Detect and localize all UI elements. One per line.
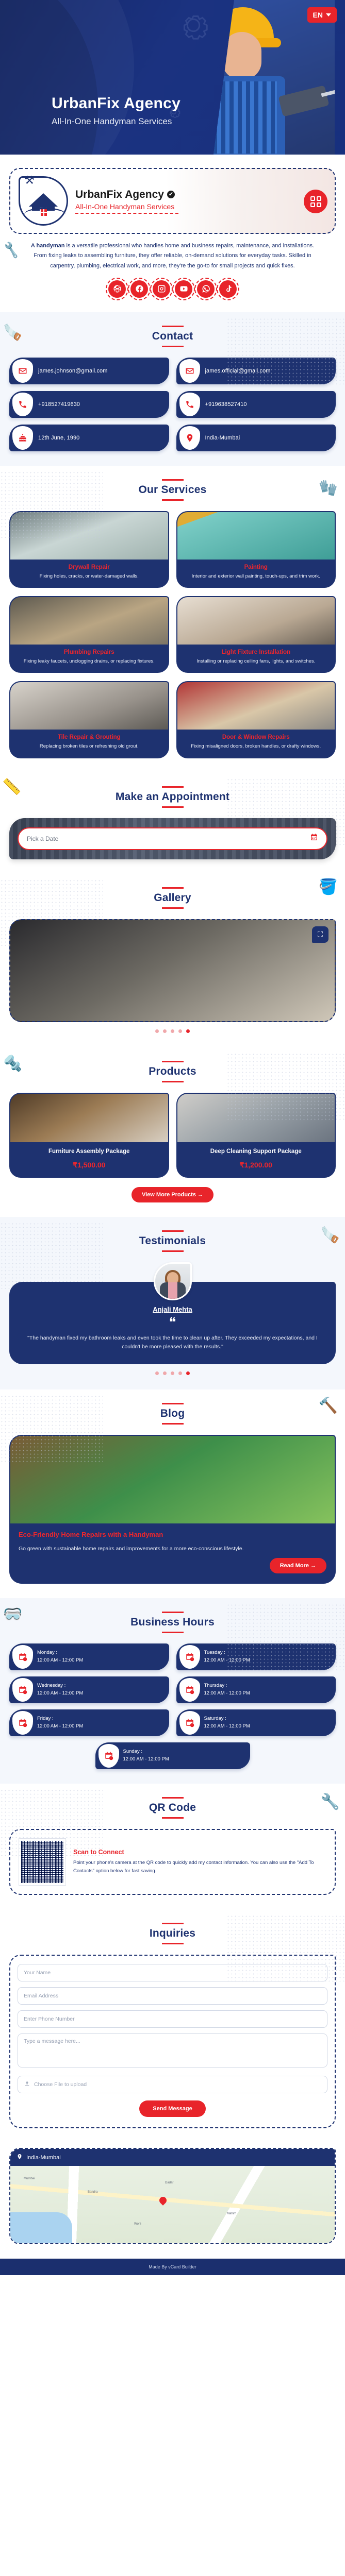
section-title: Products <box>9 1065 336 1078</box>
inquiries-section: Inquiries Choose File to upload Send Mes… <box>0 1909 345 2143</box>
logo-arc-decoration <box>24 208 65 221</box>
calendar-clock-icon <box>179 1711 200 1735</box>
date-placeholder: Pick a Date <box>27 835 58 842</box>
product-price: ₹1,500.00 <box>14 1161 164 1170</box>
calendar-clock-icon <box>12 1645 33 1669</box>
contact-email-1[interactable]: james.johnson@gmail.com <box>9 358 169 384</box>
map-place-label: Mumbai <box>24 2177 35 2180</box>
blog-post-title: Eco-Friendly Home Repairs with a Handyma… <box>19 1531 326 1538</box>
hero-banner: EN UrbanFix Agency All-In-One Handyman S… <box>0 0 345 155</box>
view-more-products-button[interactable]: View More Products → <box>132 1187 213 1202</box>
business-hours-day: Saturday : <box>204 1715 250 1723</box>
whatsapp-icon[interactable] <box>197 280 215 298</box>
brand-name-row: UrbanFix Agency ✔ <box>75 189 326 201</box>
social-links <box>9 271 336 309</box>
map-card[interactable]: India-Mumbai Mumbai Bandra Dadar Worli M… <box>9 2148 336 2244</box>
business-hours-row: Monday : 12:00 AM - 12:00 PM <box>9 1643 169 1670</box>
qr-card-body: Point your phone's camera at the QR code… <box>73 1859 326 1875</box>
gallery-carousel-dots <box>9 1022 336 1033</box>
hero-subtitle: All-In-One Handyman Services <box>52 116 172 127</box>
gear-icon <box>175 7 211 43</box>
products-section: 🔩 Products Furniture Assembly Package ₹1… <box>0 1047 345 1217</box>
contact-location[interactable]: India-Mumbai <box>176 425 336 451</box>
calendar-clock-icon <box>179 1645 200 1669</box>
date-picker[interactable]: Pick a Date <box>18 827 327 850</box>
hero-title: UrbanFix Agency <box>52 95 180 112</box>
gallery-heading: Gallery <box>9 887 336 909</box>
carousel-dot[interactable] <box>163 1371 167 1375</box>
location-icon <box>179 426 200 450</box>
services-heading: Our Services <box>9 479 336 501</box>
tagline-underline <box>75 213 178 214</box>
file-upload-control[interactable]: Choose File to upload <box>18 2076 327 2093</box>
map-water <box>10 2212 72 2243</box>
map-place-label: Worli <box>134 2223 141 2226</box>
service-description: Replacing broken tiles or refreshing old… <box>15 743 163 750</box>
service-card[interactable]: Light Fixture Installation Installing or… <box>176 596 336 673</box>
contact-birthday[interactable]: 12th June, 1990 <box>9 425 169 451</box>
business-hours-row: Thursday : 12:00 AM - 12:00 PM <box>176 1676 336 1703</box>
service-description: Fixing holes, cracks, or water-damaged w… <box>15 573 163 580</box>
product-image <box>10 1094 168 1142</box>
service-card[interactable]: Tile Repair & Grouting Replacing broken … <box>9 681 169 758</box>
services-grid: Drywall Repair Fixing holes, cracks, or … <box>9 511 336 758</box>
section-title: Inquiries <box>9 1927 336 1940</box>
phone-icon <box>12 393 33 416</box>
section-title: Blog <box>9 1408 336 1420</box>
blog-post-description: Go green with sustainable home repairs a… <box>19 1545 326 1554</box>
carousel-dot-active[interactable] <box>186 1029 190 1033</box>
service-image <box>10 597 168 645</box>
inquiries-heading: Inquiries <box>9 1923 336 1944</box>
qr-section: 🔧 QR Code Scan to Connect Point your pho… <box>0 1784 345 1909</box>
service-image <box>177 682 335 730</box>
contact-value: james.johnson@gmail.com <box>38 368 112 374</box>
message-field[interactable] <box>18 2033 327 2067</box>
business-hours-time: 12:00 AM - 12:00 PM <box>37 1657 83 1663</box>
quote-icon: ❝ <box>21 1315 324 1329</box>
profile-section: ⚒ UrbanFix Agency ✔ All-In-One Handyman … <box>0 155 345 312</box>
expand-icon[interactable]: ⛶ <box>312 926 328 943</box>
carousel-dot[interactable] <box>163 1029 167 1033</box>
service-image <box>10 682 168 730</box>
contact-phone-1[interactable]: +918527419630 <box>9 391 169 418</box>
carousel-dot[interactable] <box>171 1029 174 1033</box>
business-hours-day: Monday : <box>37 1649 83 1657</box>
product-name: Furniture Assembly Package <box>14 1147 164 1156</box>
business-hours-row: Wednesday : 12:00 AM - 12:00 PM <box>9 1676 169 1703</box>
section-title: Testimonials <box>9 1235 336 1247</box>
carousel-dot[interactable] <box>171 1371 174 1375</box>
business-hours-row-sunday: Sunday : 12:00 AM - 12:00 PM <box>95 1742 250 1769</box>
section-title: Contact <box>9 330 336 343</box>
service-name: Light Fixture Installation <box>183 649 330 655</box>
calendar-clock-icon <box>179 1678 200 1702</box>
file-upload-label: Choose File to upload <box>34 2081 87 2088</box>
qr-shortcut-button[interactable] <box>304 190 327 213</box>
business-hours-day: Sunday : <box>123 1748 169 1756</box>
contact-value: India-Mumbai <box>205 435 244 441</box>
map-section: India-Mumbai Mumbai Bandra Dadar Worli M… <box>0 2143 345 2259</box>
hero-worker-photo <box>206 0 335 155</box>
map-location-label: India-Mumbai <box>26 2155 61 2161</box>
testimonial-text: "The handyman fixed my bathroom leaks an… <box>21 1334 324 1352</box>
service-card[interactable]: Plumbing Repairs Fixing leaky faucets, u… <box>9 596 169 673</box>
business-hours-time: 12:00 AM - 12:00 PM <box>37 1723 83 1729</box>
brand-logo: ⚒ <box>19 176 68 226</box>
contact-heading: Contact <box>9 326 336 347</box>
service-image <box>177 512 335 560</box>
contact-value: +918527419630 <box>38 401 84 408</box>
language-selector[interactable]: EN <box>307 7 337 23</box>
facebook-icon[interactable] <box>130 280 148 298</box>
appointment-panel: Pick a Date <box>9 818 336 859</box>
hammer-wrench-icon: ⚒ <box>24 174 35 187</box>
email-field[interactable] <box>18 1987 327 2005</box>
business-hours-row: Saturday : 12:00 AM - 12:00 PM <box>176 1709 336 1736</box>
business-hours-time: 12:00 AM - 12:00 PM <box>204 1723 250 1729</box>
qr-heading: QR Code <box>9 1797 336 1819</box>
worker-face-graphic <box>222 32 261 79</box>
testimonial-author: Anjali Mehta <box>21 1306 324 1313</box>
product-name: Deep Cleaning Support Package <box>182 1147 331 1156</box>
business-hours-day: Wednesday : <box>37 1682 83 1690</box>
products-heading: Products <box>9 1061 336 1082</box>
services-section: 🧤 Our Services Drywall Repair Fixing hol… <box>0 466 345 773</box>
service-image <box>177 597 335 645</box>
map-place-label: Dadar <box>165 2181 173 2184</box>
qr-card-heading: Scan to Connect <box>73 1849 326 1856</box>
cake-icon <box>12 426 33 450</box>
avatar <box>154 1262 192 1300</box>
service-name: Plumbing Repairs <box>15 649 163 655</box>
language-label: EN <box>313 11 323 19</box>
business-hours-time: 12:00 AM - 12:00 PM <box>204 1690 250 1696</box>
map-place-label: Mahim <box>227 2212 236 2215</box>
business-hours-section: 🥽 Business Hours Monday : 12:00 AM - 12:… <box>0 1598 345 1784</box>
business-hours-row: Friday : 12:00 AM - 12:00 PM <box>9 1709 169 1736</box>
calendar-icon[interactable] <box>310 833 318 844</box>
service-description: Installing or replacing ceiling fans, li… <box>183 658 330 665</box>
service-name: Door & Window Repairs <box>183 734 330 740</box>
logo-text-block: UrbanFix Agency ✔ All-In-One Handyman Se… <box>75 189 326 214</box>
brand-tagline: All-In-One Handyman Services <box>75 202 326 211</box>
service-description: Fixing misaligned doors, broken handles,… <box>183 743 330 750</box>
product-price: ₹1,200.00 <box>182 1161 331 1170</box>
testimonials-section: 🪚 Testimonials Anjali Mehta ❝ "The handy… <box>0 1217 345 1390</box>
section-title: Make an Appointment <box>9 791 336 803</box>
pliers-decoration-icon: 🔧 <box>2 241 21 260</box>
drill-graphic <box>278 85 330 116</box>
blog-heading: Blog <box>9 1403 336 1425</box>
upload-icon <box>24 2080 30 2089</box>
about-lead: A handyman <box>31 243 65 249</box>
carousel-dot[interactable] <box>155 1029 159 1033</box>
gallery-section: 🪣 Gallery ⛶ <box>0 874 345 1047</box>
worker-shirt-graphic <box>199 76 285 155</box>
section-title: Business Hours <box>9 1616 336 1629</box>
carousel-dot[interactable] <box>178 1371 182 1375</box>
map-header: India-Mumbai <box>10 2149 335 2166</box>
calendar-clock-icon <box>12 1678 33 1702</box>
service-card[interactable]: Painting Interior and exterior wall pain… <box>176 511 336 588</box>
contact-value: 12th June, 1990 <box>38 435 84 441</box>
map-canvas[interactable]: Mumbai Bandra Dadar Worli Mahim <box>10 2166 335 2243</box>
testimonial-slide: Anjali Mehta ❝ "The handyman fixed my ba… <box>9 1262 336 1365</box>
business-hours-sunday-wrap: Sunday : 12:00 AM - 12:00 PM <box>9 1742 336 1769</box>
blog-section: 🔨 Blog Eco-Friendly Home Repairs with a … <box>0 1389 345 1598</box>
email-icon <box>12 359 33 383</box>
business-hours-heading: Business Hours <box>9 1612 336 1633</box>
carousel-dot[interactable] <box>155 1371 159 1375</box>
youtube-icon[interactable] <box>175 280 192 298</box>
section-title: QR Code <box>9 1802 336 1814</box>
brand-name: UrbanFix Agency <box>75 189 164 201</box>
instagram-icon[interactable] <box>153 280 170 298</box>
contact-phone-2[interactable]: +919638527410 <box>176 391 336 418</box>
service-description: Interior and exterior wall painting, tou… <box>183 573 330 580</box>
email-icon <box>179 359 200 383</box>
about-paragraph: A handyman is a versatile professional w… <box>9 234 336 271</box>
calendar-clock-icon <box>12 1711 33 1735</box>
business-hours-day: Friday : <box>37 1715 83 1723</box>
service-name: Drywall Repair <box>15 564 163 570</box>
business-hours-time: 12:00 AM - 12:00 PM <box>37 1690 83 1696</box>
vcard-page: EN UrbanFix Agency All-In-One Handyman S… <box>0 0 345 2275</box>
service-card[interactable]: Door & Window Repairs Fixing misaligned … <box>176 681 336 758</box>
chevron-down-icon <box>326 13 331 16</box>
service-name: Tile Repair & Grouting <box>15 734 163 740</box>
carousel-dot-active[interactable] <box>186 1371 190 1375</box>
testimonial-carousel-dots <box>9 1364 336 1375</box>
service-description: Fixing leaky faucets, unclogging drains,… <box>15 658 163 665</box>
website-icon[interactable] <box>108 280 126 298</box>
qr-icon <box>310 196 321 207</box>
gallery-slide[interactable]: ⛶ <box>9 919 336 1022</box>
verified-badge-icon: ✔ <box>167 191 175 198</box>
read-more-button[interactable]: Read More → <box>270 1558 326 1573</box>
footer: Made By vCard Builder <box>0 2259 345 2275</box>
appointment-section: 📏 Make an Appointment Pick a Date <box>0 773 345 874</box>
product-card[interactable]: Furniture Assembly Package ₹1,500.00 <box>9 1093 169 1178</box>
contact-section: 🪚 Contact james.johnson@gmail.com james.… <box>0 312 345 466</box>
carousel-dot[interactable] <box>178 1029 182 1033</box>
section-title: Our Services <box>9 484 336 496</box>
calendar-clock-icon <box>98 1744 119 1768</box>
tiktok-icon[interactable] <box>219 280 237 298</box>
phone-field[interactable] <box>18 2010 327 2028</box>
business-hours-time: 12:00 AM - 12:00 PM <box>123 1756 169 1762</box>
section-title: Gallery <box>9 892 336 904</box>
map-place-label: Bandra <box>88 2191 97 2194</box>
logo-card: ⚒ UrbanFix Agency ✔ All-In-One Handyman … <box>9 168 336 234</box>
service-name: Painting <box>183 564 330 570</box>
location-icon <box>17 2154 23 2161</box>
appointment-heading: Make an Appointment <box>9 786 336 808</box>
business-hours-day: Thursday : <box>204 1682 250 1690</box>
about-body: is a versatile professional who handles … <box>34 243 314 269</box>
phone-icon <box>179 393 200 416</box>
send-message-button[interactable]: Send Message <box>139 2100 205 2117</box>
testimonials-heading: Testimonials <box>9 1230 336 1252</box>
contact-value: +919638527410 <box>205 401 251 408</box>
